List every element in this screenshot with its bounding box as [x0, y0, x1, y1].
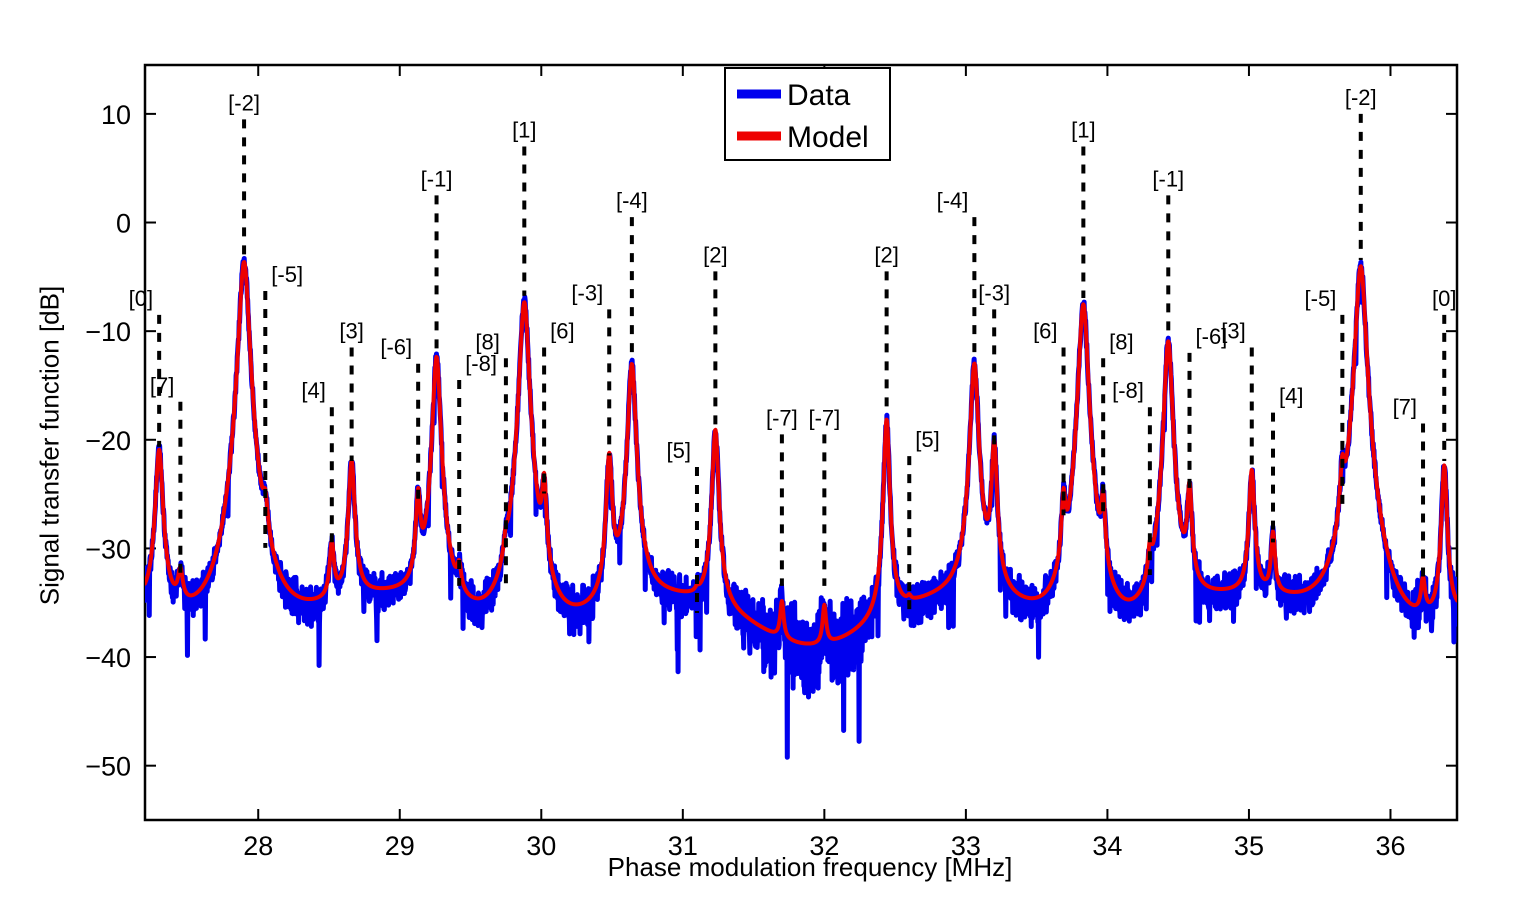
peak-label: [-1] — [421, 166, 453, 191]
peak-label: [-7] — [766, 405, 798, 430]
peak-label: [-7] — [808, 405, 840, 430]
peak-label: [6] — [1033, 318, 1057, 343]
legend-label-model: Model — [787, 121, 869, 154]
peak-label: [5] — [667, 438, 691, 463]
x-tick-label: 36 — [1375, 831, 1405, 861]
peak-label: [-1] — [1152, 166, 1184, 191]
peak-label: [8] — [1109, 329, 1133, 354]
peak-label: [2] — [874, 242, 898, 267]
legend: DataModel — [725, 68, 890, 160]
peak-label: [7] — [1393, 394, 1417, 419]
y-tick-label: −10 — [85, 317, 131, 347]
peak-label: [-6] — [380, 335, 412, 360]
peak-label: [-2] — [228, 90, 260, 115]
y-tick-label: −20 — [85, 426, 131, 456]
peak-label: [-5] — [271, 262, 303, 287]
peak-label: [4] — [1279, 384, 1303, 409]
plot-frame — [145, 65, 1457, 820]
y-tick-label: 10 — [101, 100, 131, 130]
y-axis-label: Signal transfer function [dB] — [35, 166, 66, 726]
plot-canvas: 282930313233343536100−10−20−30−40−50[0][… — [0, 0, 1535, 920]
y-tick-label: −40 — [85, 643, 131, 673]
peak-label: [-4] — [937, 188, 969, 213]
figure-root: 282930313233343536100−10−20−30−40−50[0][… — [0, 0, 1535, 920]
peak-label: [4] — [301, 378, 325, 403]
y-tick-label: 0 — [116, 209, 131, 239]
legend-label-data: Data — [787, 79, 851, 112]
peak-label: [-2] — [1345, 85, 1377, 110]
peak-label: [0] — [1432, 286, 1456, 311]
peak-label: [3] — [339, 318, 363, 343]
peak-label: [6] — [550, 318, 574, 343]
peak-label: [1] — [1071, 117, 1095, 142]
peak-label: [7] — [150, 373, 174, 398]
x-tick-label: 35 — [1234, 831, 1264, 861]
y-tick-label: −50 — [85, 752, 131, 782]
peak-label: [-4] — [616, 188, 648, 213]
peak-label: [3] — [1221, 318, 1245, 343]
peak-label: [5] — [915, 427, 939, 452]
peak-label: [-8] — [1112, 378, 1144, 403]
peak-label: [-8] — [465, 351, 497, 376]
x-tick-label: 28 — [243, 831, 273, 861]
peak-label: [8] — [475, 329, 499, 354]
y-tick-label: −30 — [85, 534, 131, 564]
peak-label: [-3] — [978, 280, 1010, 305]
peak-label: [0] — [129, 286, 153, 311]
x-tick-label: 29 — [385, 831, 415, 861]
peak-label: [-3] — [571, 280, 603, 305]
x-axis-label: Phase modulation frequency [MHz] — [460, 852, 1160, 883]
peak-label: [1] — [512, 117, 536, 142]
peak-label: [-5] — [1305, 286, 1337, 311]
peak-label: [2] — [703, 242, 727, 267]
